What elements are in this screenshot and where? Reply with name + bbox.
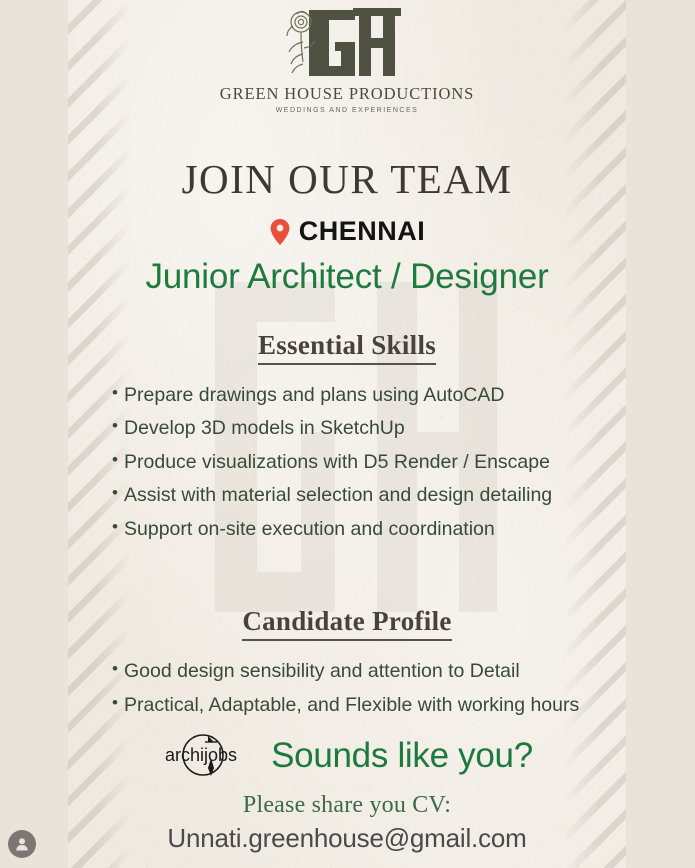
list-item: Assist with material selection and desig… [112, 479, 626, 513]
page-title: JOIN OUR TEAM [68, 159, 626, 200]
user-avatar-icon[interactable] [8, 830, 36, 858]
essential-skills-list: Prepare drawings and plans using AutoCAD… [68, 379, 626, 547]
brand-block: GREEN HOUSE PRODUCTIONS WEDDINGS AND EXP… [68, 0, 626, 114]
cta-text: Sounds like you? [271, 738, 533, 773]
location-row: CHENNAI [68, 216, 626, 247]
list-item: Prepare drawings and plans using AutoCAD [112, 379, 626, 413]
section-title-essential-skills: Essential Skills [258, 330, 436, 365]
list-item: Good design sensibility and attention to… [112, 655, 626, 689]
share-cv-label: Please share you CV: [68, 792, 626, 819]
section-title-candidate-profile: Candidate Profile [242, 606, 451, 641]
poster-footer: archijobs Sounds like you? Please share … [68, 730, 626, 854]
job-poster-image: GREEN HOUSE PRODUCTIONS WEDDINGS AND EXP… [68, 0, 626, 868]
job-role-title: Junior Architect / Designer [68, 259, 626, 296]
location-pin-icon [269, 218, 291, 246]
candidate-profile-list: Good design sensibility and attention to… [68, 655, 626, 722]
location-city: CHENNAI [299, 216, 426, 247]
contact-email: Unnati.greenhouse@gmail.com [68, 823, 626, 854]
feed-page: GREEN HOUSE PRODUCTIONS WEDDINGS AND EXP… [0, 0, 695, 868]
gh-monogram-flower-logo [267, 6, 427, 80]
brand-tagline: WEDDINGS AND EXPERIENCES [68, 107, 626, 114]
brand-name: GREEN HOUSE PRODUCTIONS [68, 84, 626, 104]
cta-row: archijobs Sounds like you? [68, 730, 626, 780]
list-item: Support on-site execution and coordinati… [112, 513, 626, 547]
poster-content: GREEN HOUSE PRODUCTIONS WEDDINGS AND EXP… [68, 0, 626, 868]
list-item: Practical, Adaptable, and Flexible with … [112, 689, 626, 723]
archijobs-logo: archijobs [161, 730, 257, 780]
section-essential-skills: Essential Skills Prepare drawings and pl… [68, 330, 626, 547]
list-item: Develop 3D models in SketchUp [112, 412, 626, 446]
section-candidate-profile: Candidate Profile Good design sensibilit… [68, 606, 626, 722]
list-item: Produce visualizations with D5 Render / … [112, 446, 626, 480]
svg-text:archijobs: archijobs [165, 745, 237, 765]
